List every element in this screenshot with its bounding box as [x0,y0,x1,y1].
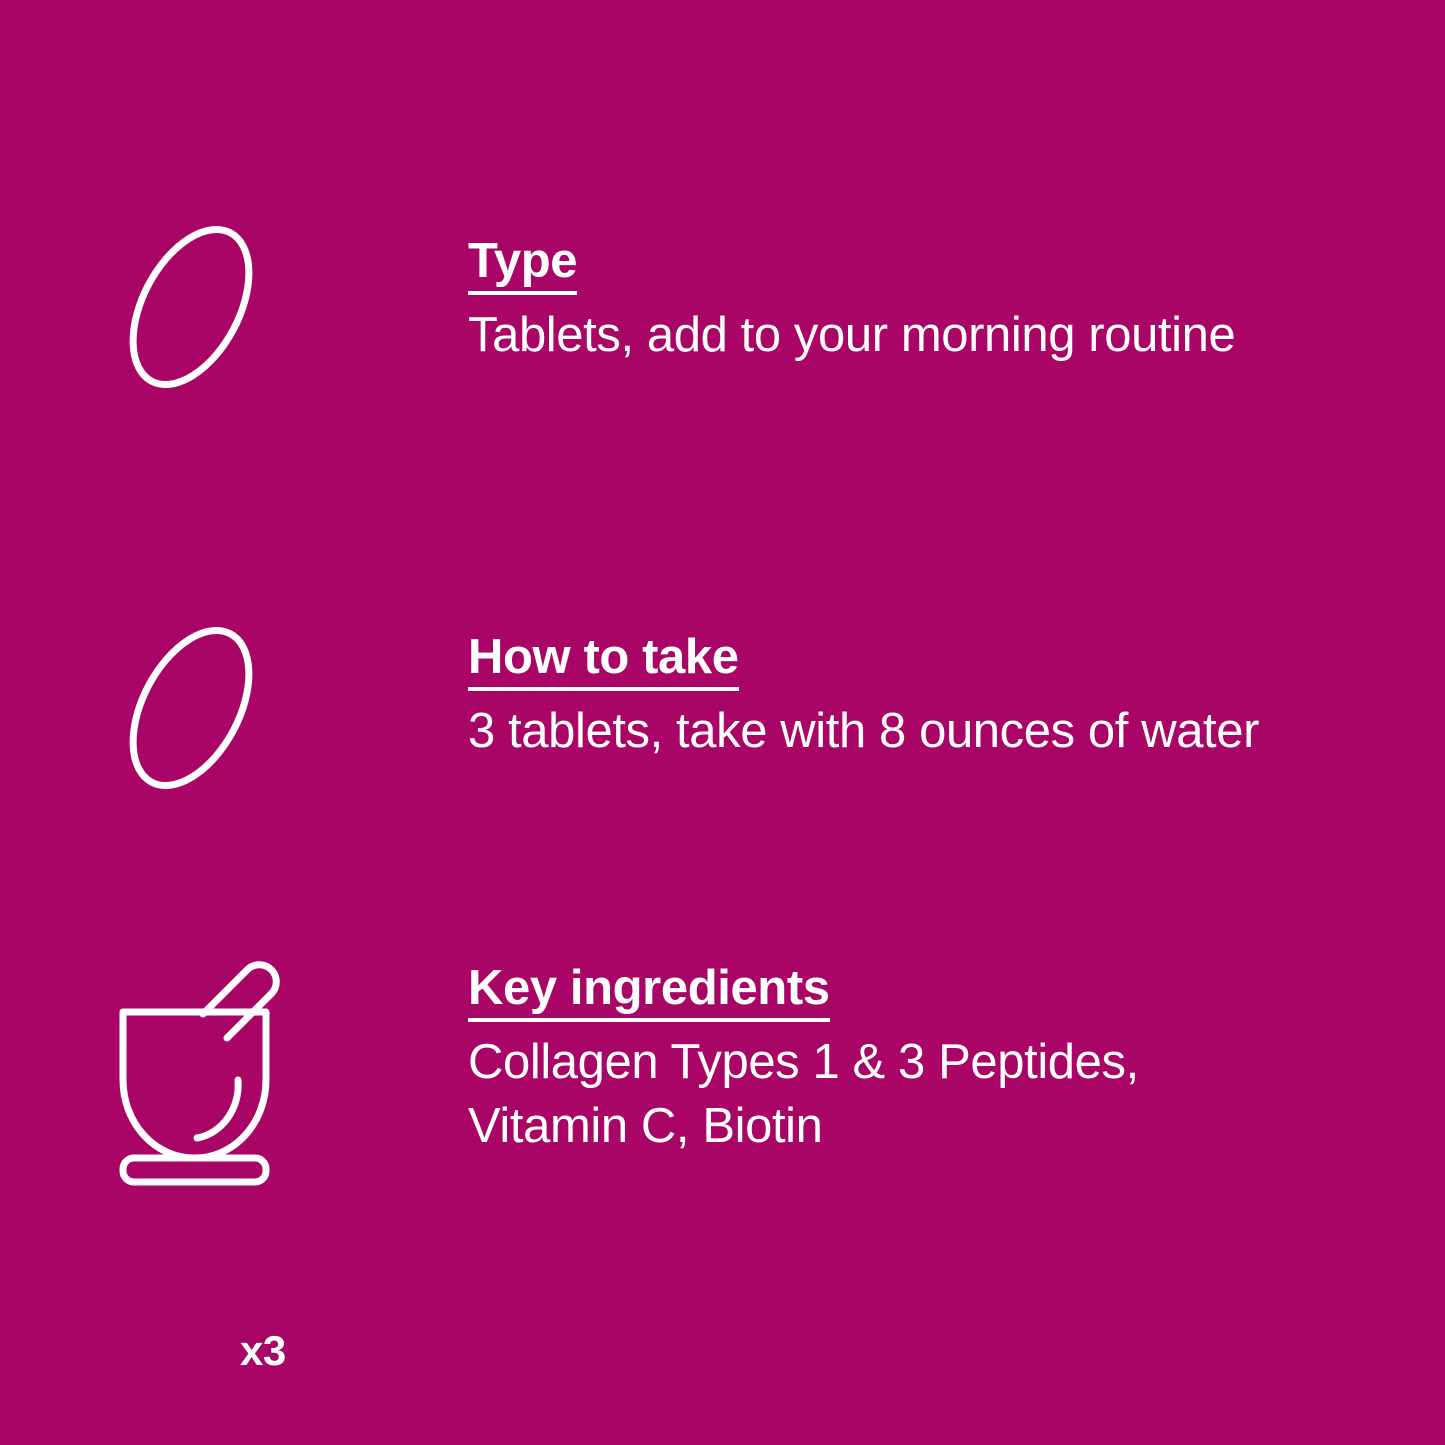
key-ingredients-text-block: Key ingredients Collagen Types 1 & 3 Pep… [468,963,1398,1158]
section-body-key-ingredients-line-1: Collagen Types 1 & 3 Peptides, [468,1031,1398,1095]
section-title-type: Type [468,236,577,295]
section-body-key-ingredients-line-2: Vitamin C, Biotin [468,1095,1398,1159]
tablet-pill-icon [95,216,325,446]
dose-multiplier-badge: x3 [240,1330,286,1372]
mortar-and-pestle-icon [98,950,338,1200]
section-title-how-to-take: How to take [468,632,739,691]
section-body-how-to-take: 3 tablets, take with 8 ounces of water [468,700,1398,764]
supplement-info-panel: Type Tablets, add to your morning routin… [0,0,1445,1445]
how-to-take-text-block: How to take 3 tablets, take with 8 ounce… [468,632,1398,764]
section-title-key-ingredients: Key ingredients [468,963,830,1022]
type-text-block: Type Tablets, add to your morning routin… [468,236,1398,368]
tablet-pill-icon [95,612,325,842]
section-body-type: Tablets, add to your morning routine [468,304,1398,368]
